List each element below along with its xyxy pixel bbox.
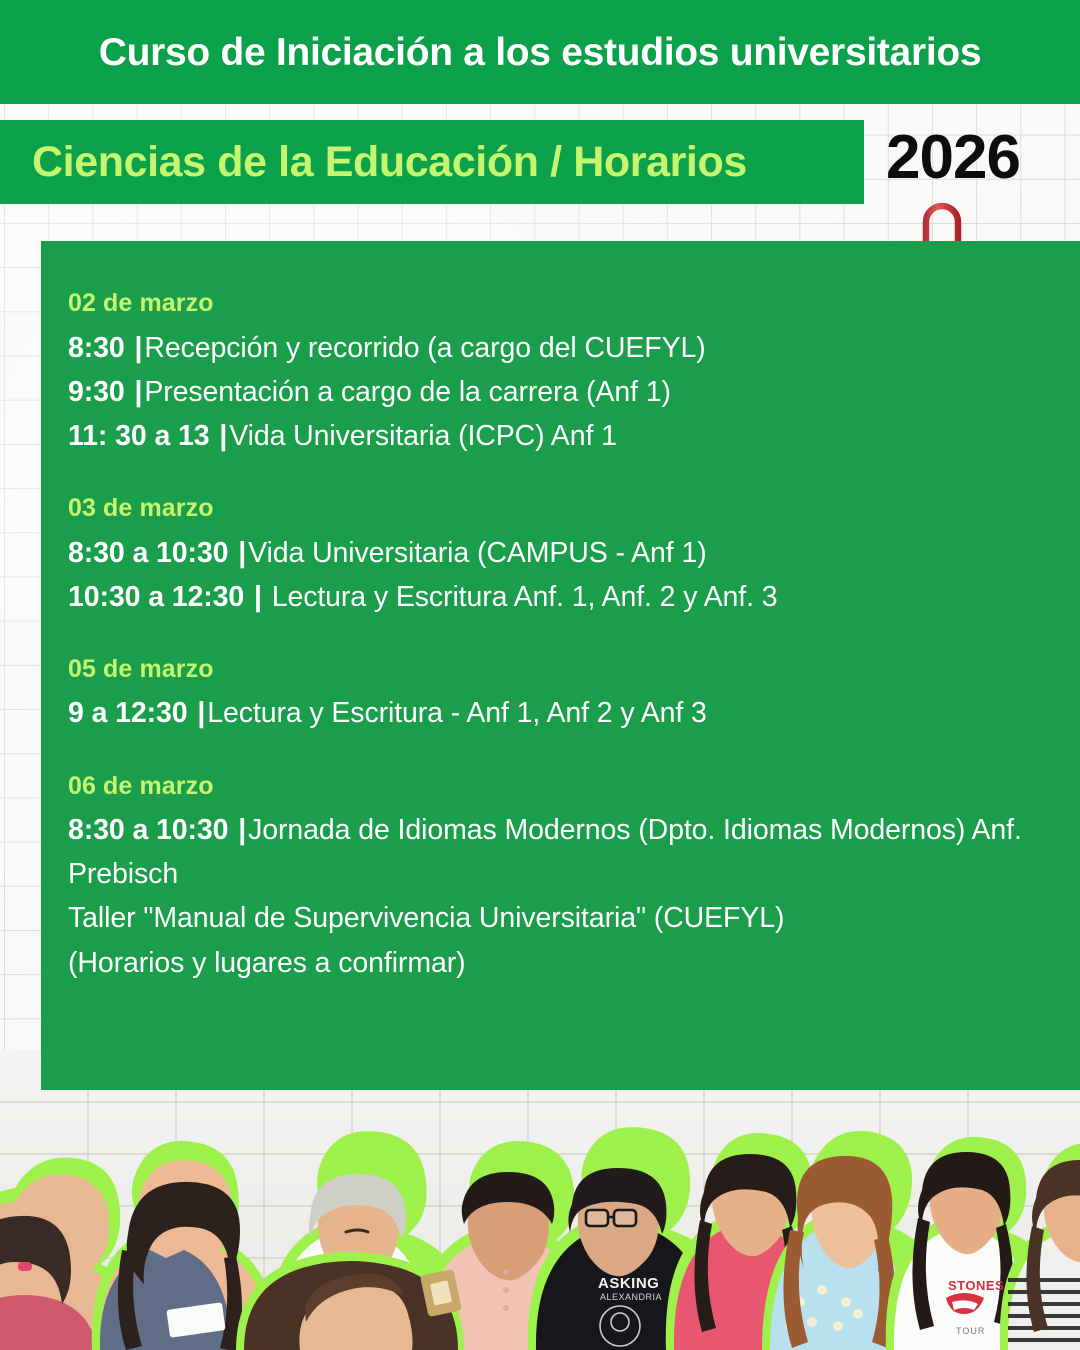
schedule-card: 02 de marzo8:30 |Recepción y recorrido (… <box>41 241 1080 1090</box>
schedule-day-date: 05 de marzo <box>68 653 1038 686</box>
schedule-entry-time: 8:30 a 10:30 <box>68 814 228 846</box>
section-title: Ciencias de la Educación / Horarios <box>0 141 747 184</box>
schedule-entry-separator: | <box>132 376 144 408</box>
section-title-banner: Ciencias de la Educación / Horarios <box>0 120 864 204</box>
schedule-day-block: 05 de marzo9 a 12:30 |Lectura y Escritur… <box>68 653 1038 736</box>
schedule-entry-separator: | <box>236 814 248 846</box>
schedule-day-date: 06 de marzo <box>68 770 1038 803</box>
student-photo-strip: TERROHORTZ <box>0 1050 1080 1350</box>
schedule-entry-text: (Horarios y lugares a confirmar) <box>68 947 466 979</box>
schedule-entry-time: 11: 30 a 13 <box>68 420 210 452</box>
svg-text:ALEXANDRIA: ALEXANDRIA <box>600 1292 662 1302</box>
schedule-day-block: 03 de marzo8:30 a 10:30 |Vida Universita… <box>68 492 1038 619</box>
student-photo-illustration: TERROHORTZ <box>0 1050 1080 1350</box>
schedule-entry-text: Vida Universitaria (ICPC) Anf 1 <box>229 420 617 452</box>
schedule-entry-text: Lectura y Escritura - Anf 1, Anf 2 y Anf… <box>207 697 707 729</box>
schedule-entry: 8:30 a 10:30 |Vida Universitaria (CAMPUS… <box>68 531 1038 575</box>
schedule-entry-time: 9:30 <box>68 376 125 408</box>
schedule-entry: 11: 30 a 13 |Vida Universitaria (ICPC) A… <box>68 414 1038 458</box>
schedule-entry-time: 8:30 a 10:30 <box>68 537 228 569</box>
svg-text:ASKING: ASKING <box>598 1275 659 1292</box>
schedule-entry: (Horarios y lugares a confirmar) <box>68 941 1038 985</box>
schedule-list: 02 de marzo8:30 |Recepción y recorrido (… <box>68 287 1038 985</box>
schedule-entry-text: Vida Universitaria (CAMPUS - Anf 1) <box>248 537 706 569</box>
schedule-entry-text: Lectura y Escritura Anf. 1, Anf. 2 y Anf… <box>264 581 778 613</box>
schedule-entry-text: Taller "Manual de Supervivencia Universi… <box>68 902 784 934</box>
schedule-entry-separator: | <box>217 420 229 452</box>
schedule-entry-time: 10:30 a 12:30 <box>68 581 244 613</box>
course-title-banner: Curso de Iniciación a los estudios unive… <box>0 0 1080 104</box>
poster-root: TERROHORTZ <box>0 0 1080 1350</box>
schedule-entry: 8:30 |Recepción y recorrido (a cargo del… <box>68 326 1038 370</box>
schedule-entry-separator: | <box>195 697 207 729</box>
year-label: 2026 <box>886 124 1020 192</box>
course-title: Curso de Iniciación a los estudios unive… <box>99 33 982 72</box>
schedule-entry-text: Presentación a cargo de la carrera (Anf … <box>144 376 671 408</box>
schedule-entry-time: 8:30 <box>68 332 125 364</box>
svg-text:STONES: STONES <box>948 1278 1004 1293</box>
svg-text:TOUR: TOUR <box>956 1326 985 1336</box>
schedule-entry: 9 a 12:30 |Lectura y Escritura - Anf 1, … <box>68 691 1038 735</box>
schedule-day-block: 02 de marzo8:30 |Recepción y recorrido (… <box>68 287 1038 458</box>
schedule-entry-separator: | <box>252 581 264 613</box>
schedule-entry: 10:30 a 12:30 | Lectura y Escritura Anf.… <box>68 575 1038 619</box>
schedule-entry-text: Recepción y recorrido (a cargo del CUEFY… <box>144 332 705 364</box>
schedule-day-date: 03 de marzo <box>68 492 1038 525</box>
schedule-entry: 9:30 |Presentación a cargo de la carrera… <box>68 370 1038 414</box>
schedule-entry-separator: | <box>236 537 248 569</box>
schedule-entry: 8:30 a 10:30 |Jornada de Idiomas Moderno… <box>68 808 1038 896</box>
schedule-day-block: 06 de marzo8:30 a 10:30 |Jornada de Idio… <box>68 770 1038 985</box>
schedule-entry: Taller "Manual de Supervivencia Universi… <box>68 896 1038 940</box>
schedule-day-date: 02 de marzo <box>68 287 1038 320</box>
schedule-entry-separator: | <box>132 332 144 364</box>
schedule-entry-time: 9 a 12:30 <box>68 697 188 729</box>
